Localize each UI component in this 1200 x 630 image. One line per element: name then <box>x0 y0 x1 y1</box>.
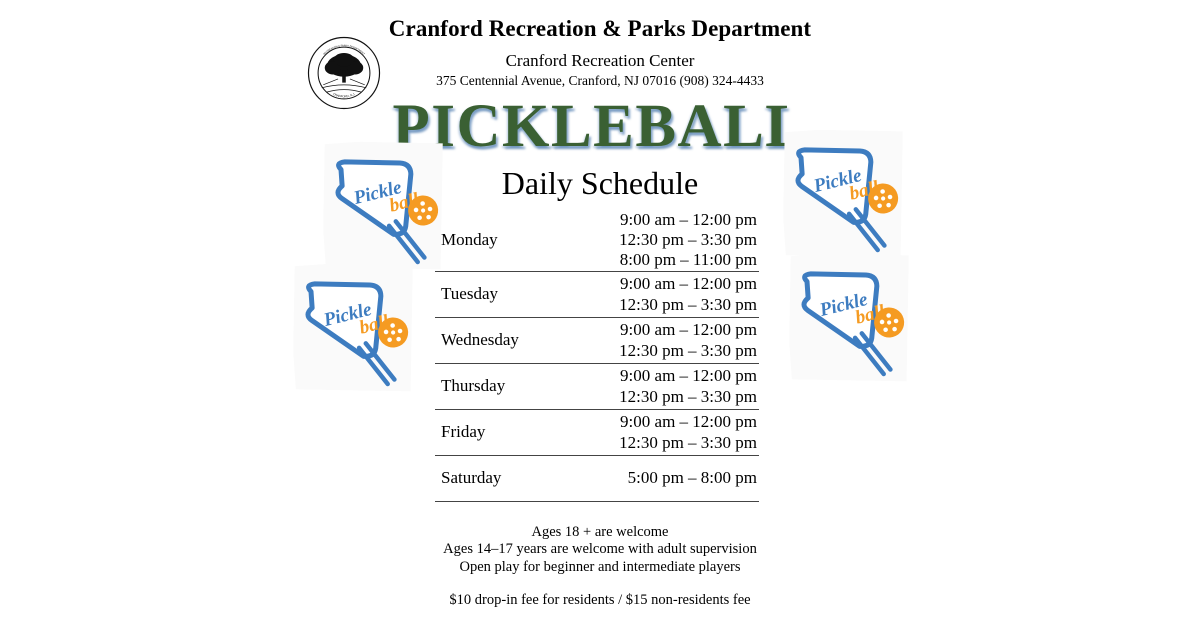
venue-name: Cranford Recreation Center <box>0 50 1200 71</box>
time-slot: 9:00 am – 12:00 pm <box>559 366 757 386</box>
table-row: Monday 9:00 am – 12:00 pm 12:30 pm – 3:3… <box>435 209 759 272</box>
table-row: Saturday 5:00 pm – 8:00 pm <box>435 456 759 502</box>
note-open-play: Open play for beginner and intermediate … <box>0 559 1200 576</box>
venue-address: 375 Centennial Avenue, Cranford, NJ 0701… <box>0 72 1200 90</box>
table-row: Thursday 9:00 am – 12:00 pm 12:30 pm – 3… <box>435 364 759 410</box>
paddle-graphic-bottom-left: Pickle ball <box>287 258 426 407</box>
time-slot: 9:00 am – 12:00 pm <box>559 210 757 230</box>
day-label: Tuesday <box>435 272 559 318</box>
day-times: 9:00 am – 12:00 pm 12:30 pm – 3:30 pm <box>559 318 759 364</box>
eligibility-notes: Ages 18 + are welcome Ages 14–17 years a… <box>0 524 1200 576</box>
table-row: Tuesday 9:00 am – 12:00 pm 12:30 pm – 3:… <box>435 272 759 318</box>
time-slot: 9:00 am – 12:00 pm <box>559 320 757 340</box>
venue-block: Cranford Recreation Center 375 Centennia… <box>0 50 1200 90</box>
day-label: Friday <box>435 410 559 456</box>
day-times: 9:00 am – 12:00 pm 12:30 pm – 3:30 pm <box>559 272 759 318</box>
time-slot: 12:30 pm – 3:30 pm <box>559 341 757 361</box>
drop-in-fee-note: $10 drop-in fee for residents / $15 non-… <box>0 592 1200 609</box>
day-times: 9:00 am – 12:00 pm 12:30 pm – 3:30 pm 8:… <box>559 209 759 272</box>
time-slot: 9:00 am – 12:00 pm <box>559 412 757 432</box>
note-ages-14-17: Ages 14–17 years are welcome with adult … <box>0 541 1200 558</box>
time-slot: 8:00 pm – 11:00 pm <box>559 250 757 270</box>
daily-schedule-table: Monday 9:00 am – 12:00 pm 12:30 pm – 3:3… <box>435 209 759 502</box>
table-row: Friday 9:00 am – 12:00 pm 12:30 pm – 3:3… <box>435 410 759 456</box>
day-label: Thursday <box>435 364 559 410</box>
page-title: PICKLEBALL <box>0 96 1200 157</box>
note-ages-18: Ages 18 + are welcome <box>0 524 1200 541</box>
day-times: 9:00 am – 12:00 pm 12:30 pm – 3:30 pm <box>559 364 759 410</box>
pickleball-flyer: RECREATION & PARKS DEPARTMENT CRANFORD, … <box>0 0 1200 630</box>
time-slot: 12:30 pm – 3:30 pm <box>559 295 757 315</box>
time-slot: 12:30 pm – 3:30 pm <box>559 387 757 407</box>
organization-title: Cranford Recreation & Parks Department <box>0 16 1200 42</box>
time-slot: 12:30 pm – 3:30 pm <box>559 230 757 250</box>
paddle-graphic-bottom-right: Pickle ball <box>783 248 922 397</box>
time-slot: 9:00 am – 12:00 pm <box>559 274 757 294</box>
day-times: 9:00 am – 12:00 pm 12:30 pm – 3:30 pm <box>559 410 759 456</box>
day-label: Saturday <box>435 456 559 502</box>
day-times: 5:00 pm – 8:00 pm <box>559 456 759 502</box>
day-label: Wednesday <box>435 318 559 364</box>
time-slot: 5:00 pm – 8:00 pm <box>559 468 757 488</box>
schedule-subtitle: Daily Schedule <box>0 166 1200 201</box>
time-slot: 12:30 pm – 3:30 pm <box>559 433 757 453</box>
table-row: Wednesday 9:00 am – 12:00 pm 12:30 pm – … <box>435 318 759 364</box>
